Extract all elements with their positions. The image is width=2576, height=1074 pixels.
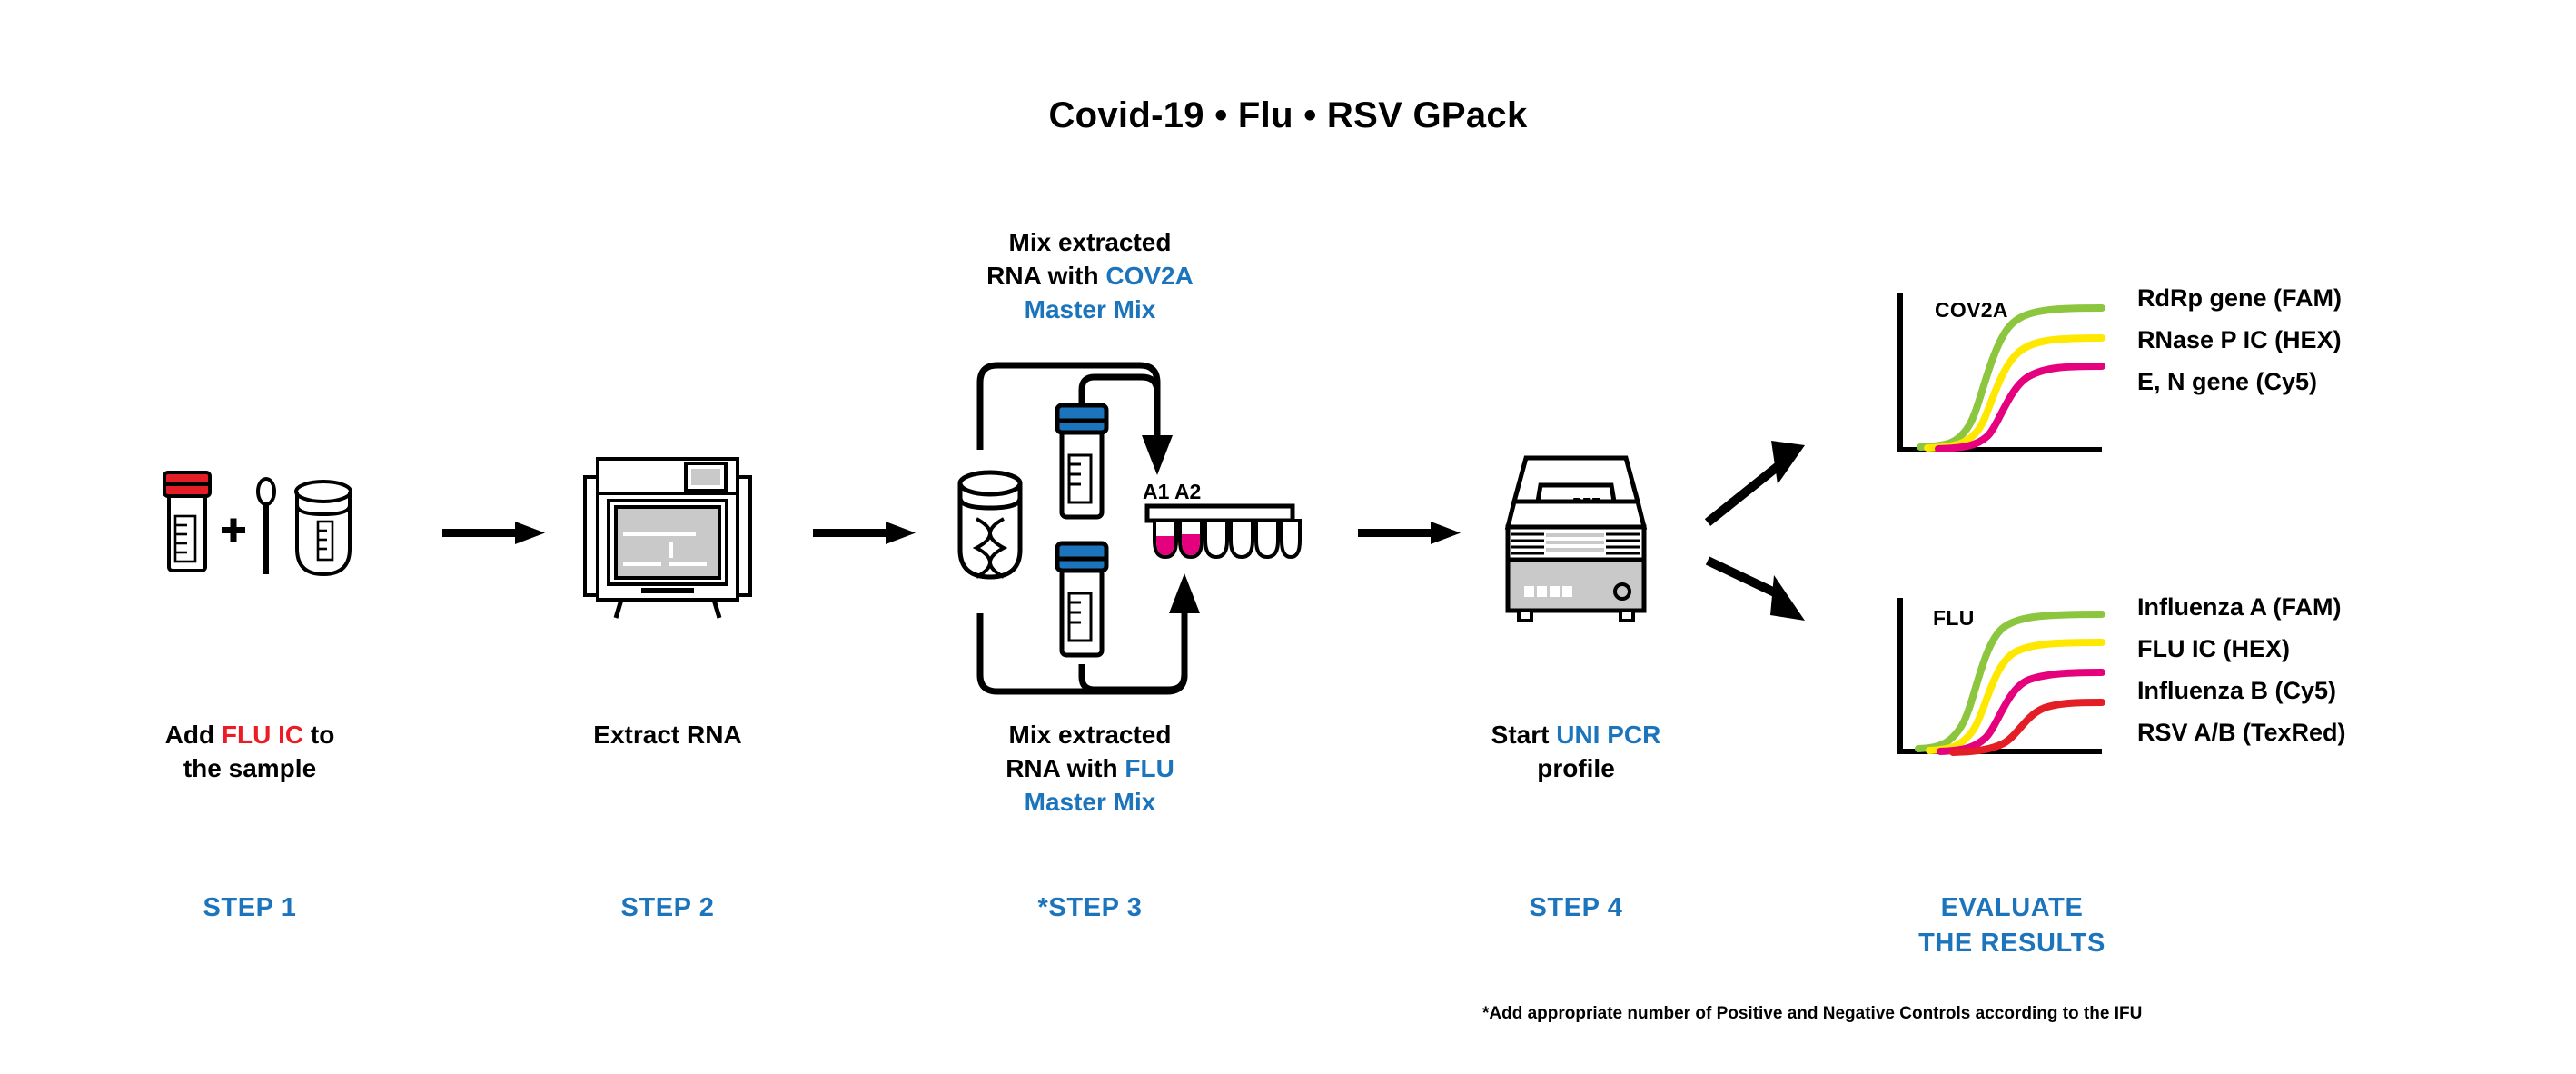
- step-2-group: [581, 450, 754, 627]
- flu-amplification-chart: [1891, 591, 2109, 777]
- step3-top-line2a: RNA with: [986, 262, 1105, 290]
- arrow-down-icon: [1142, 435, 1173, 475]
- step-1-caption-line2: the sample: [183, 754, 316, 782]
- step-3-caption-bottom: Mix extracted RNA with FLU Master Mix: [926, 718, 1253, 820]
- step-4-caption-line1: Start UNI PCR: [1491, 721, 1661, 749]
- step-4-group: croBEE: [1490, 445, 1662, 631]
- cov2a-accent: COV2A: [1105, 262, 1193, 290]
- step-3-mixing-schematic: [940, 350, 1331, 704]
- step3-bot-line1: Mix extracted: [1009, 721, 1172, 749]
- arrow-up-icon: [1169, 573, 1200, 613]
- flu-legend: Influenza A (FAM) FLU IC (HEX) Influenza…: [2137, 595, 2346, 745]
- curve-rdrp-fam: [1920, 308, 2102, 447]
- flu-master-mix-tube-icon: [1057, 543, 1106, 655]
- arrow-right-icon: [813, 520, 917, 547]
- arrow-step3-to-step4: [1358, 520, 1462, 552]
- arrow-right-icon: [1358, 520, 1462, 547]
- footnote: *Add appropriate number of Positive and …: [1482, 1004, 2142, 1024]
- step-1-label: STEP 1: [118, 890, 381, 926]
- flu-ic-accent: FLU IC: [222, 721, 303, 749]
- legend-item: E, N gene (Cy5): [2137, 370, 2342, 394]
- legend-item: FLU IC (HEX): [2137, 637, 2346, 661]
- well-position-label: A1 A2: [1143, 480, 1201, 504]
- arrow-up-right-icon: [1708, 441, 1805, 522]
- arrow-step1-to-step2: [442, 520, 547, 552]
- cov2a-master-mix-tube-icon: [1057, 405, 1106, 517]
- diverging-arrows: [1703, 404, 1894, 650]
- legend-item: RdRp gene (FAM): [2137, 286, 2342, 311]
- legend-item: Influenza B (Cy5): [2137, 679, 2346, 703]
- power-knob-icon[interactable]: [1615, 584, 1630, 599]
- arrow-down-right-icon: [1708, 561, 1805, 621]
- step-4-label: STEP 4: [1453, 890, 1699, 926]
- flu-accent: FLU: [1125, 754, 1174, 782]
- evaluate-results-label: EVALUATE THE RESULTS: [1867, 890, 2157, 961]
- evaluate-line2: THE RESULTS: [1918, 929, 2105, 958]
- flu-chart-title: FLU: [1933, 606, 1975, 631]
- step3-bot-line2a: RNA with: [1006, 754, 1125, 782]
- step3-bot-line3: Master Mix: [1025, 788, 1156, 816]
- plus-icon: [222, 519, 245, 542]
- step-3-group: [940, 350, 1331, 709]
- rna-tube-with-helix-icon: [960, 472, 1020, 577]
- legend-item: RSV A/B (TexRed): [2137, 721, 2346, 745]
- step-1-caption: Add FLU IC to the sample: [118, 718, 381, 785]
- step-4-caption: Start UNI PCR profile: [1453, 718, 1699, 785]
- step-2-label: STEP 2: [545, 890, 790, 926]
- step-3-caption-top: Mix extracted RNA with COV2A Master Mix: [926, 225, 1253, 327]
- step3-top-line3: Master Mix: [1025, 295, 1156, 323]
- uni-pcr-accent: UNI PCR: [1556, 721, 1660, 749]
- step-3-label: *STEP 3: [926, 890, 1253, 926]
- rna-extraction-instrument-icon: [581, 450, 754, 622]
- pcr-tube-strip-icon: [1147, 506, 1300, 557]
- legend-item: RNase P IC (HEX): [2137, 328, 2342, 353]
- step-1-group: [154, 454, 418, 582]
- evaluate-line1: EVALUATE: [1941, 893, 2084, 922]
- cov2a-chart-title: COV2A: [1935, 298, 2008, 323]
- arrow-step2-to-step3: [813, 520, 917, 552]
- page-title: Covid-19 • Flu • RSV GPack: [0, 95, 2576, 136]
- legend-item: Influenza A (FAM): [2137, 595, 2346, 620]
- step-2-caption: Extract RNA: [545, 718, 790, 751]
- curve-influenza-a-fam: [1918, 614, 2102, 749]
- collection-tube-red-cap: [164, 472, 210, 571]
- step3-top-line1: Mix extracted: [1009, 228, 1172, 256]
- arrow-right-icon: [442, 520, 547, 547]
- step-4-caption-line2: profile: [1537, 754, 1615, 782]
- pcr-cycler-instrument-icon: croBEE: [1490, 445, 1662, 627]
- specimen-tube-icon: [296, 482, 351, 574]
- step-1-caption-line1: Add FLU IC to: [165, 721, 335, 749]
- workflow-diagram: Covid-19 • Flu • RSV GPack: [0, 0, 2576, 1074]
- step-1-icons: [154, 454, 418, 582]
- swab-icon: [258, 479, 274, 574]
- cov2a-legend: RdRp gene (FAM) RNase P IC (HEX) E, N ge…: [2137, 286, 2342, 394]
